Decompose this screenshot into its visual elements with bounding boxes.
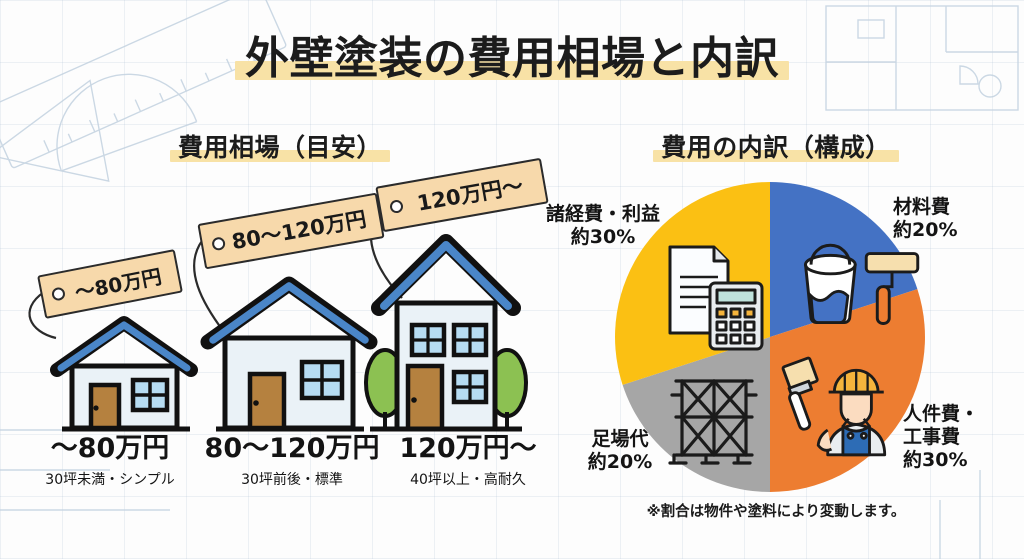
house-illustrations (10, 180, 540, 440)
pie-label-material: 材料費 約20% (893, 196, 957, 242)
medium-house-icon (208, 284, 370, 429)
page-title: 外壁塗装の費用相場と内訳 (245, 22, 779, 86)
pie-label-scaffold: 足場代 約20% (568, 428, 672, 474)
pie-label-misc-pct: 約30% (523, 226, 683, 249)
large-house-icon (366, 242, 526, 429)
pie-label-labor: 人件費・ 工事費 約30% (903, 403, 979, 473)
cost-desc-large: 40坪以上・高耐久 (378, 469, 558, 489)
right-section-heading: 費用の内訳（構成） (661, 128, 891, 164)
pie-label-material-name: 材料費 (893, 196, 950, 218)
cost-price-large: 120万円〜 (378, 426, 558, 465)
left-section-heading-container: 費用相場（目安） (60, 128, 500, 164)
left-section-heading: 費用相場（目安） (178, 128, 382, 164)
pie-label-labor-name-2: 工事費 (903, 426, 979, 449)
cost-price-medium: 80〜120万円 (192, 426, 392, 465)
pie-label-labor-name-1: 人件費・ (903, 403, 979, 425)
pie-chart-note: ※割合は物件や塗料により変動します。 (566, 500, 986, 521)
pie-label-scaffold-pct: 約20% (568, 451, 672, 474)
cost-desc-medium: 30坪前後・標準 (192, 469, 392, 489)
cost-price-small: 〜80万円 (20, 426, 200, 465)
pie-label-scaffold-name: 足場代 (591, 428, 648, 450)
small-house-icon (57, 323, 191, 429)
cost-caption-medium: 80〜120万円 30坪前後・標準 (192, 426, 392, 489)
pie-label-material-pct: 約20% (893, 219, 957, 242)
pie-label-misc-name: 諸経費・利益 (546, 203, 660, 225)
pie-label-misc: 諸経費・利益 約30% (523, 203, 683, 249)
cost-range-panel: 〜80万円 80〜120万円 120万円〜 (10, 180, 540, 510)
cost-caption-small: 〜80万円 30坪未満・シンプル (20, 426, 200, 489)
cost-desc-small: 30坪未満・シンプル (20, 469, 200, 489)
cost-caption-large: 120万円〜 40坪以上・高耐久 (378, 426, 558, 489)
pie-label-labor-pct: 約30% (903, 449, 979, 472)
right-section-heading-container: 費用の内訳（構成） (566, 128, 986, 164)
title-container: 外壁塗装の費用相場と内訳 (0, 22, 1024, 86)
